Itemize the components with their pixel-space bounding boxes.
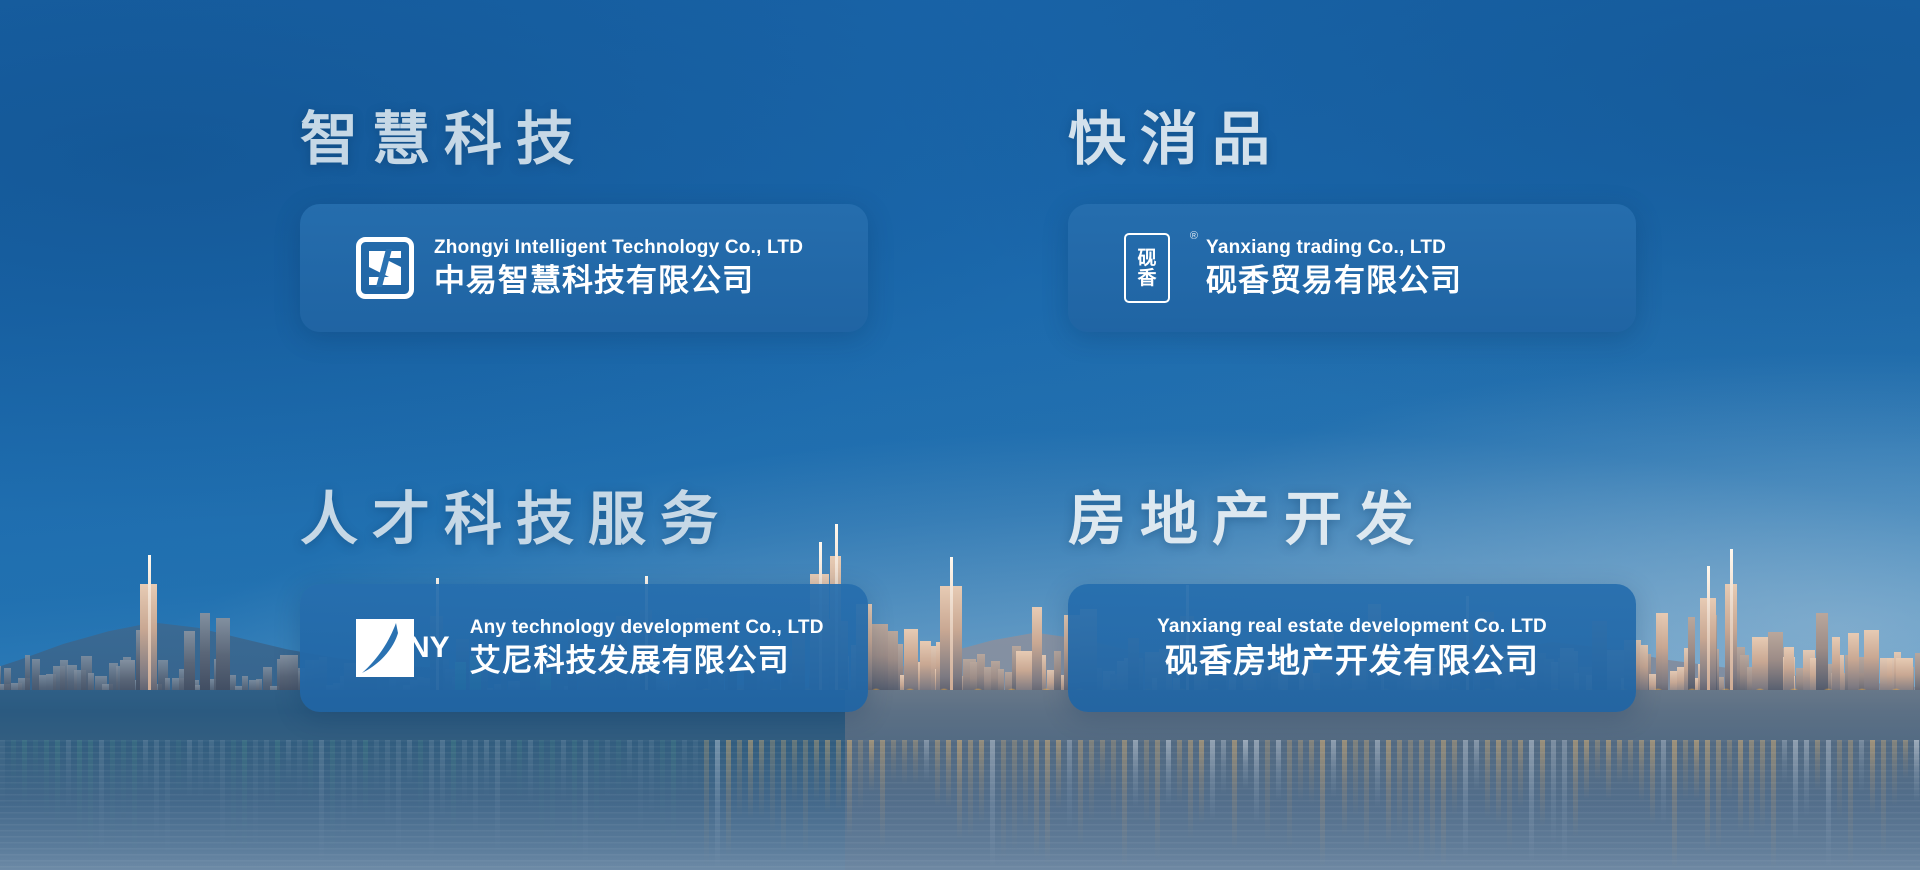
company-name-block: Zhongyi Intelligent Technology Co., LTD … [434, 236, 803, 301]
yanxiang-seal-logo: 砚 香 ® [1124, 232, 1186, 304]
company-name-cn: 艾尼科技发展有限公司 [470, 642, 824, 681]
section-heading: 房地产开发 [1068, 490, 1636, 548]
section-real-estate: 房地产开发 Yanxiang real estate development C… [1068, 490, 1636, 712]
company-card-zhongyi[interactable]: Zhongyi Intelligent Technology Co., LTD … [300, 204, 868, 332]
company-name-cn: 砚香房地产开发有限公司 [1165, 640, 1539, 681]
section-heading: 快消品 [1068, 110, 1636, 168]
company-name-block: Yanxiang real estate development Co. LTD… [1157, 615, 1547, 682]
zhongyi-z-mark-icon [356, 237, 414, 299]
zhongyi-logo [356, 237, 414, 299]
company-name-en: Zhongyi Intelligent Technology Co., LTD [434, 236, 803, 260]
section-fmcg: 快消品 砚 香 ® Yanxiang trading Co., LTD 砚香贸易… [1068, 110, 1636, 332]
company-name-en: Any technology development Co., LTD [470, 616, 824, 640]
any-logo: NY [356, 619, 450, 677]
section-smart-technology: 智慧科技 Zhongyi Intelligent Technology Co.,… [300, 110, 868, 332]
company-card-yanxiang-trading[interactable]: 砚 香 ® Yanxiang trading Co., LTD 砚香贸易有限公司 [1068, 204, 1636, 332]
registered-trademark-icon: ® [1190, 230, 1198, 242]
company-name-en: Yanxiang real estate development Co. LTD [1157, 615, 1547, 639]
company-name-cn: 中易智慧科技有限公司 [434, 262, 803, 301]
company-name-block: Any technology development Co., LTD 艾尼科技… [470, 616, 824, 681]
any-logo-text: NY [408, 631, 450, 665]
company-name-cn: 砚香贸易有限公司 [1206, 262, 1462, 301]
section-heading: 人才科技服务 [300, 490, 868, 548]
seal-char-2: 香 [1137, 269, 1156, 288]
company-name-en: Yanxiang trading Co., LTD [1206, 236, 1462, 260]
section-talent-services: 人才科技服务 NY Any technology development Co.… [300, 490, 868, 712]
company-card-any[interactable]: NY Any technology development Co., LTD 艾… [300, 584, 868, 712]
seal-frame-icon: 砚 香 [1124, 233, 1170, 303]
any-mountain-icon [356, 619, 414, 677]
section-heading: 智慧科技 [300, 110, 868, 168]
seal-char-1: 砚 [1137, 249, 1156, 268]
company-card-yanxiang-realestate[interactable]: Yanxiang real estate development Co. LTD… [1068, 584, 1636, 712]
company-name-block: Yanxiang trading Co., LTD 砚香贸易有限公司 [1206, 236, 1462, 301]
